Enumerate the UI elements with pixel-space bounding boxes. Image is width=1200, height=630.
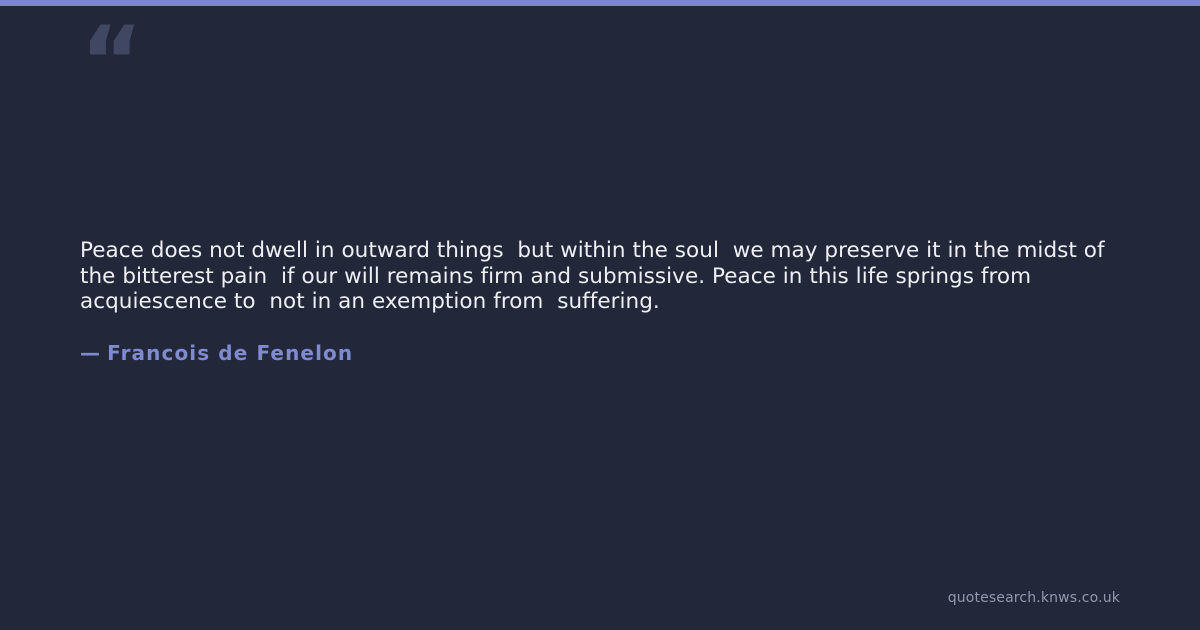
attribution-dash: —: [80, 341, 101, 365]
top-accent-bar: [0, 0, 1200, 6]
quote-attribution: —Francois de Fenelon: [80, 341, 353, 365]
author-name: Francois de Fenelon: [107, 341, 353, 365]
quote-body: Peace does not dwell in outward things b…: [80, 238, 1125, 315]
quote-card: “ Peace does not dwell in outward things…: [0, 0, 1200, 630]
quote-text: Peace does not dwell in outward things b…: [80, 238, 1125, 315]
open-quote-icon: “: [80, 14, 141, 110]
source-url: quotesearch.knws.co.uk: [948, 590, 1120, 606]
